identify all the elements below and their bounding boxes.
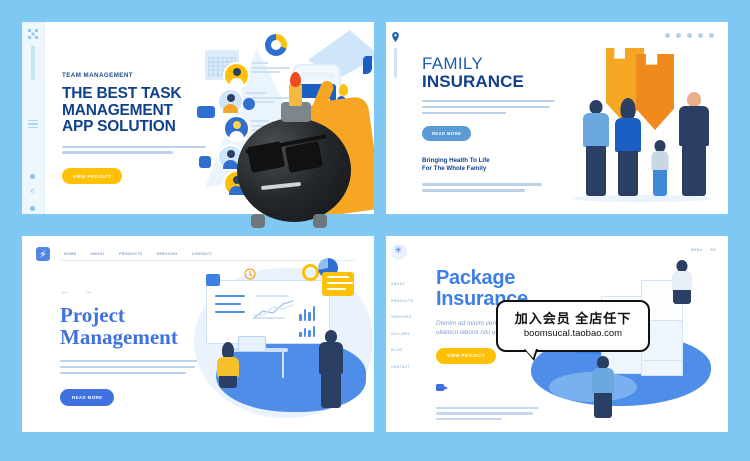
bomb-foot-left — [251, 214, 265, 228]
person-child — [650, 140, 670, 196]
brand-logo-icon[interactable] — [36, 247, 50, 261]
bar-chart-icon-small — [299, 325, 315, 337]
nav-item-home[interactable]: HOME — [64, 252, 76, 256]
panel3-illustration — [182, 252, 372, 432]
subheading-line-1: Bringing Health To Life — [422, 157, 490, 164]
person-worker — [591, 356, 615, 418]
nav-item-services[interactable]: SERVICES — [391, 315, 413, 319]
list-row — [251, 62, 293, 76]
view-project-button[interactable]: VIEW PROJECT — [62, 168, 122, 184]
menu-icon[interactable] — [709, 33, 714, 38]
headline-line-2: MANAGEMENT — [62, 102, 173, 119]
brand-logo-icon[interactable] — [391, 244, 407, 260]
mail-icon[interactable] — [30, 206, 35, 211]
read-more-button[interactable]: READ MORE — [422, 126, 471, 141]
menu-link[interactable]: MENU — [691, 248, 703, 252]
person-mother — [614, 98, 642, 196]
read-more-button[interactable]: READ MORE — [60, 389, 114, 406]
body-text — [422, 100, 558, 114]
laptop — [238, 336, 266, 352]
avatar — [223, 62, 250, 89]
play-icon[interactable] — [436, 384, 444, 391]
globe-icon[interactable] — [30, 174, 35, 179]
headline-line-1: THE BEST TASK — [62, 85, 181, 102]
headline-line-2: Management — [60, 325, 178, 349]
panel4-top-links: MENU EN — [691, 248, 716, 252]
panel2-subsection: Bringing Health To Life For The Whole Fa… — [422, 157, 558, 191]
view-project-button[interactable]: VIEW PROJECT — [436, 348, 496, 364]
avatar — [223, 115, 250, 142]
location-pin-icon — [392, 32, 399, 42]
sunglasses-right-lens — [285, 141, 323, 173]
panel-package-insurance: ABOUT PRODUCTS SERVICES GALLERY BLOG CON… — [386, 236, 728, 432]
language-link[interactable]: EN — [710, 248, 716, 252]
nav-item-products[interactable]: PRODUCTS — [391, 299, 413, 303]
location-icon[interactable] — [687, 33, 692, 38]
page-title-thin: FAMILY — [422, 55, 558, 73]
panel2-sidebar — [386, 22, 406, 214]
search-input[interactable] — [300, 72, 334, 79]
bomb-mouth — [261, 182, 301, 190]
panel4-sidebar: ABOUT PRODUCTS SERVICES GALLERY BLOG CON… — [386, 236, 412, 432]
headline-line-3: APP SOLUTION — [62, 118, 176, 135]
nav-item-about[interactable]: ABOUT — [90, 252, 105, 256]
panel2-illustration — [562, 40, 722, 210]
nav-item-products[interactable]: PRODUCTS — [119, 252, 142, 256]
subheading: Bringing Health To Life For The Whole Fa… — [422, 157, 558, 173]
flame-icon — [290, 72, 301, 87]
phone-icon[interactable]: ✆ — [30, 190, 35, 195]
nav-item-about[interactable]: ABOUT — [391, 282, 413, 286]
panel4-sidenav: ABOUT PRODUCTS SERVICES GALLERY BLOG CON… — [391, 282, 413, 381]
line-chart-icon — [253, 299, 293, 321]
chat-bubble-icon — [322, 272, 354, 296]
bomb-mascot — [237, 118, 351, 222]
nav-item-services[interactable]: SERVICES — [157, 252, 178, 256]
bar-chart-icon — [299, 303, 315, 321]
nav-item-gallery[interactable]: GALLERY — [391, 332, 413, 336]
person-agent — [678, 92, 710, 196]
history-icon — [244, 268, 256, 280]
headline-line-1: Package — [436, 267, 515, 289]
watermark-url: boomsucal.taobao.com — [498, 328, 648, 339]
search-icon[interactable] — [665, 33, 670, 38]
nav-item-contact[interactable]: CONTACT — [391, 365, 413, 369]
panel2-top-icons — [665, 33, 714, 38]
user-badge-icon — [206, 274, 220, 286]
avatar — [217, 88, 244, 115]
gear-icon — [302, 264, 319, 281]
panel2-copy: FAMILY INSURANCE READ MORE Bringing Heal… — [422, 55, 558, 195]
chat-bubble-icon — [197, 106, 215, 118]
panel-project-management: HOME ABOUT PRODUCTS SERVICES CONTACT ← →… — [22, 236, 374, 432]
ground-shadow — [572, 195, 712, 202]
headline-line-1: Project — [60, 303, 125, 327]
nav-item-blog[interactable]: BLOG — [391, 348, 413, 352]
bomb-foot-right — [313, 214, 327, 228]
menu-icon[interactable] — [28, 120, 38, 127]
cart-icon[interactable] — [698, 33, 703, 38]
subheading-line-2: For The Whole Family — [422, 165, 486, 172]
sunglasses-left-lens — [247, 141, 285, 173]
panel-family-insurance: FAMILY INSURANCE READ MORE Bringing Heal… — [386, 22, 728, 214]
presentation-board — [206, 280, 330, 344]
decorative-shape — [363, 56, 372, 74]
page-title-bold: INSURANCE — [422, 73, 558, 91]
person-presenter — [318, 330, 344, 408]
timer-icon — [243, 98, 255, 110]
person-laptop — [671, 260, 693, 304]
bomb-fuse — [289, 84, 302, 106]
watermark-speech-bubble: 加入会员 全店任下 boomsucal.taobao.com — [496, 300, 650, 352]
sidebar-vertical-label — [31, 46, 35, 80]
panel1-sidebar: ✆ — [22, 22, 45, 214]
screenshot-stage: ✆ TEAM MANAGEMENT THE BEST TASK MANAGEME… — [0, 0, 750, 461]
sidebar-vertical-label — [394, 48, 397, 78]
watermark-chinese-text: 加入会员 全店任下 — [498, 308, 648, 327]
brand-logo-icon — [27, 28, 39, 40]
location-pin-icon — [339, 84, 348, 96]
pie-chart-icon — [265, 34, 287, 56]
gear-icon — [199, 156, 211, 168]
person-father — [582, 100, 610, 196]
phone-icon[interactable] — [676, 33, 681, 38]
person-seated — [216, 342, 240, 388]
sub-body-text — [422, 183, 558, 191]
